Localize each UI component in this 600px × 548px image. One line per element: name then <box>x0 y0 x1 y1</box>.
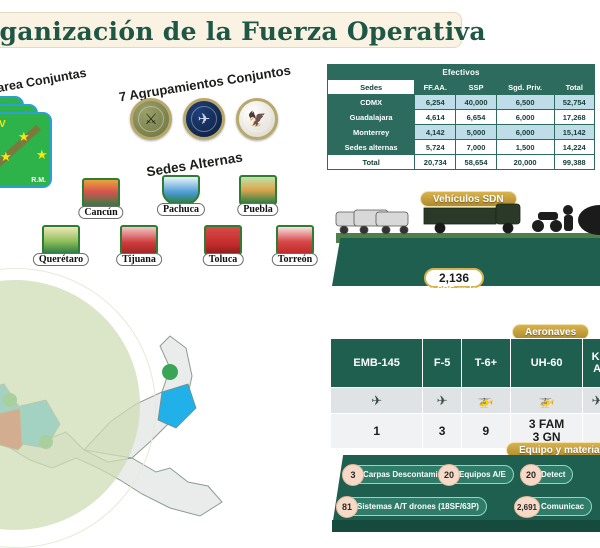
equipo-label: Comunicac <box>541 502 584 511</box>
cell-sgd: 1,500 <box>496 140 554 155</box>
aeronave-name: F-5 <box>423 339 462 388</box>
cell-ffaa: 5,724 <box>415 140 456 155</box>
mexico-map <box>0 272 330 540</box>
aeronaves-table: EMB-145 F-5 T-6+ UH-60 KI A ✈ ✈ 🚁 🚁 ✈ 1 … <box>330 338 600 449</box>
aeronave-count: 3 <box>423 414 462 449</box>
table-row: CDMX 6,254 40,000 6,500 52,754 <box>328 95 595 110</box>
note-line-1: La SDN coadyuva con la SRE en la segurid… <box>336 284 600 295</box>
wings-icon: ✈ <box>186 101 222 137</box>
cell-ssp: 6,654 <box>456 110 496 125</box>
aeronave-count: 1 <box>331 414 423 449</box>
note-line-2: protocolo dirigida a las misiones extran… <box>336 295 600 306</box>
aeronave-icon: ✈ <box>423 388 462 414</box>
cell-ssp: 40,000 <box>456 95 496 110</box>
aeronave-icon: 🚁 <box>461 388 510 414</box>
crest-pachuca: Pachuca <box>158 175 204 215</box>
region-card: V ★ ★ ★ R.M. <box>0 112 52 188</box>
cell-sgd: 6,500 <box>496 95 554 110</box>
equipo-count: 81 <box>336 496 358 518</box>
row-label: Monterrey <box>328 125 415 140</box>
aeronave-icon: 🚁 <box>510 388 582 414</box>
cell-ffaa: 4,614 <box>415 110 456 125</box>
table-row: Monterrey 4,142 5,000 6,000 15,142 <box>328 125 595 140</box>
row-label: Sedes alternas <box>328 140 415 155</box>
vehicle-illustrations <box>332 200 600 242</box>
shield-icon <box>82 178 120 208</box>
effectivos-table: Efectivos Sedes FF.AA. SSP Sgd. Priv. To… <box>327 64 595 170</box>
crest-cancun: Cancún <box>78 178 124 218</box>
cell-ssp: 7,000 <box>456 140 496 155</box>
star-icon: ★ <box>18 130 30 143</box>
equipo-item: 2,691 Comunicac <box>516 497 592 516</box>
equipo-count: 20 <box>520 464 542 486</box>
heading-tarea-conjuntas: Tarea Conjuntas <box>0 66 87 97</box>
star-icon: ★ <box>0 150 12 163</box>
row-label: Total <box>328 155 415 170</box>
aeronave-icon: ✈ <box>331 388 423 414</box>
table-row: Sedes alternas 5,724 7,000 1,500 14,224 <box>328 140 595 155</box>
cell-sgd: 6,000 <box>496 125 554 140</box>
crest-tijuana: Tijuana <box>116 225 162 265</box>
crest-puebla: Puebla <box>235 175 281 215</box>
page-title: rganización de la Fuerza Operativa <box>0 17 456 46</box>
equipo-count: 3 <box>342 464 364 486</box>
crest-label: Cancún <box>78 206 123 219</box>
equipo-item: 81 Sistemas A/T drones (18SF/63P) <box>336 497 487 516</box>
aeronave-count: 9 <box>461 414 510 449</box>
crest-torreon: Torreón <box>272 225 318 265</box>
crest-queretaro: Querétaro <box>38 225 84 265</box>
aeronave-name: T-6+ <box>461 339 510 388</box>
crest-label: Torreón <box>272 253 318 266</box>
crest-label: Toluca <box>203 253 244 266</box>
shield-icon <box>204 225 242 255</box>
cell-total: 17,268 <box>554 110 595 125</box>
equipo-label: Equipos A/E <box>459 470 506 479</box>
col-sedes: Sedes <box>328 80 415 95</box>
cell-ssp: 5,000 <box>456 125 496 140</box>
col-sgd: Sgd. Priv. <box>496 80 554 95</box>
shield-icon <box>120 225 158 255</box>
aeronave-name: UH-60 <box>510 339 582 388</box>
equipo-label: Sistemas A/T drones (18SF/63P) <box>357 502 479 511</box>
crest-label: Tijuana <box>116 253 162 266</box>
equipo-count: 20 <box>438 464 460 486</box>
slide-root: rganización de la Fuerza Operativa Tarea… <box>0 0 600 541</box>
eagle-icon: 🦅 <box>239 101 275 137</box>
aeronave-icon: ✈ <box>583 388 600 414</box>
col-ssp: SSP <box>456 80 496 95</box>
cell-sgd: 20,000 <box>496 155 554 170</box>
star-icon: ★ <box>36 148 48 161</box>
row-label: CDMX <box>328 95 415 110</box>
cell-total: 15,142 <box>554 125 595 140</box>
crest-label: Pachuca <box>157 203 205 216</box>
region-card-stack: V ★ ★ R.M. V ★ ★ R.M. V ★ ★ ★ R.M. <box>0 96 58 188</box>
row-label: Guadalajara <box>328 110 415 125</box>
shield-icon <box>162 175 200 205</box>
equipo-panel-shadow <box>332 520 600 532</box>
table-header-row: Sedes FF.AA. SSP Sgd. Priv. Total <box>328 80 595 95</box>
shield-icon <box>42 225 80 255</box>
cell-sgd: 6,000 <box>496 110 554 125</box>
col-ffaa: FF.AA. <box>415 80 456 95</box>
table-caption: Efectivos <box>328 65 595 80</box>
cell-total: 99,388 <box>554 155 595 170</box>
crest-label: Puebla <box>237 203 278 216</box>
cell-ssp: 58,654 <box>456 155 496 170</box>
shield-icon <box>239 175 277 205</box>
cell-ffaa: 4,142 <box>415 125 456 140</box>
crest-label: Querétaro <box>33 253 89 266</box>
col-total: Total <box>554 80 595 95</box>
cell-ffaa: 6,254 <box>415 95 456 110</box>
cell-total: 52,754 <box>554 95 595 110</box>
region-card-sub: R.M. <box>31 177 46 184</box>
table-total-row: Total 20,734 58,654 20,000 99,388 <box>328 155 595 170</box>
cell-ffaa: 20,734 <box>415 155 456 170</box>
equipo-item: 20 Equipos A/E <box>438 465 514 484</box>
table-row: Guadalajara 4,614 6,654 6,000 17,268 <box>328 110 595 125</box>
crossed-swords-icon: ⚔ <box>133 101 169 137</box>
crest-toluca: Toluca <box>200 225 246 265</box>
armada-medallion: ✈ <box>183 98 225 140</box>
vehiculos-note: La SDN coadyuva con la SRE en la segurid… <box>336 284 600 316</box>
equipo-label: Detect <box>541 470 565 479</box>
aeronaves-header-row: EMB-145 F-5 T-6+ UH-60 KI A <box>331 339 600 388</box>
ejercito-medallion: ⚔ <box>130 98 172 140</box>
aeronaves-image-row: ✈ ✈ 🚁 🚁 ✈ <box>331 388 600 414</box>
aeronave-name: KI A <box>583 339 600 388</box>
aeronave-name: EMB-145 <box>331 339 423 388</box>
cell-total: 14,224 <box>554 140 595 155</box>
fuerza-aerea-medallion: 🦅 <box>236 98 278 140</box>
equipo-item: 20 Detect <box>520 465 573 484</box>
note-line-3: inmunidades <box>336 305 600 316</box>
equipo-count: 2,691 <box>514 496 540 518</box>
shield-icon <box>276 225 314 255</box>
region-card-label: V <box>0 119 6 130</box>
table-caption-row: Efectivos <box>328 65 595 80</box>
